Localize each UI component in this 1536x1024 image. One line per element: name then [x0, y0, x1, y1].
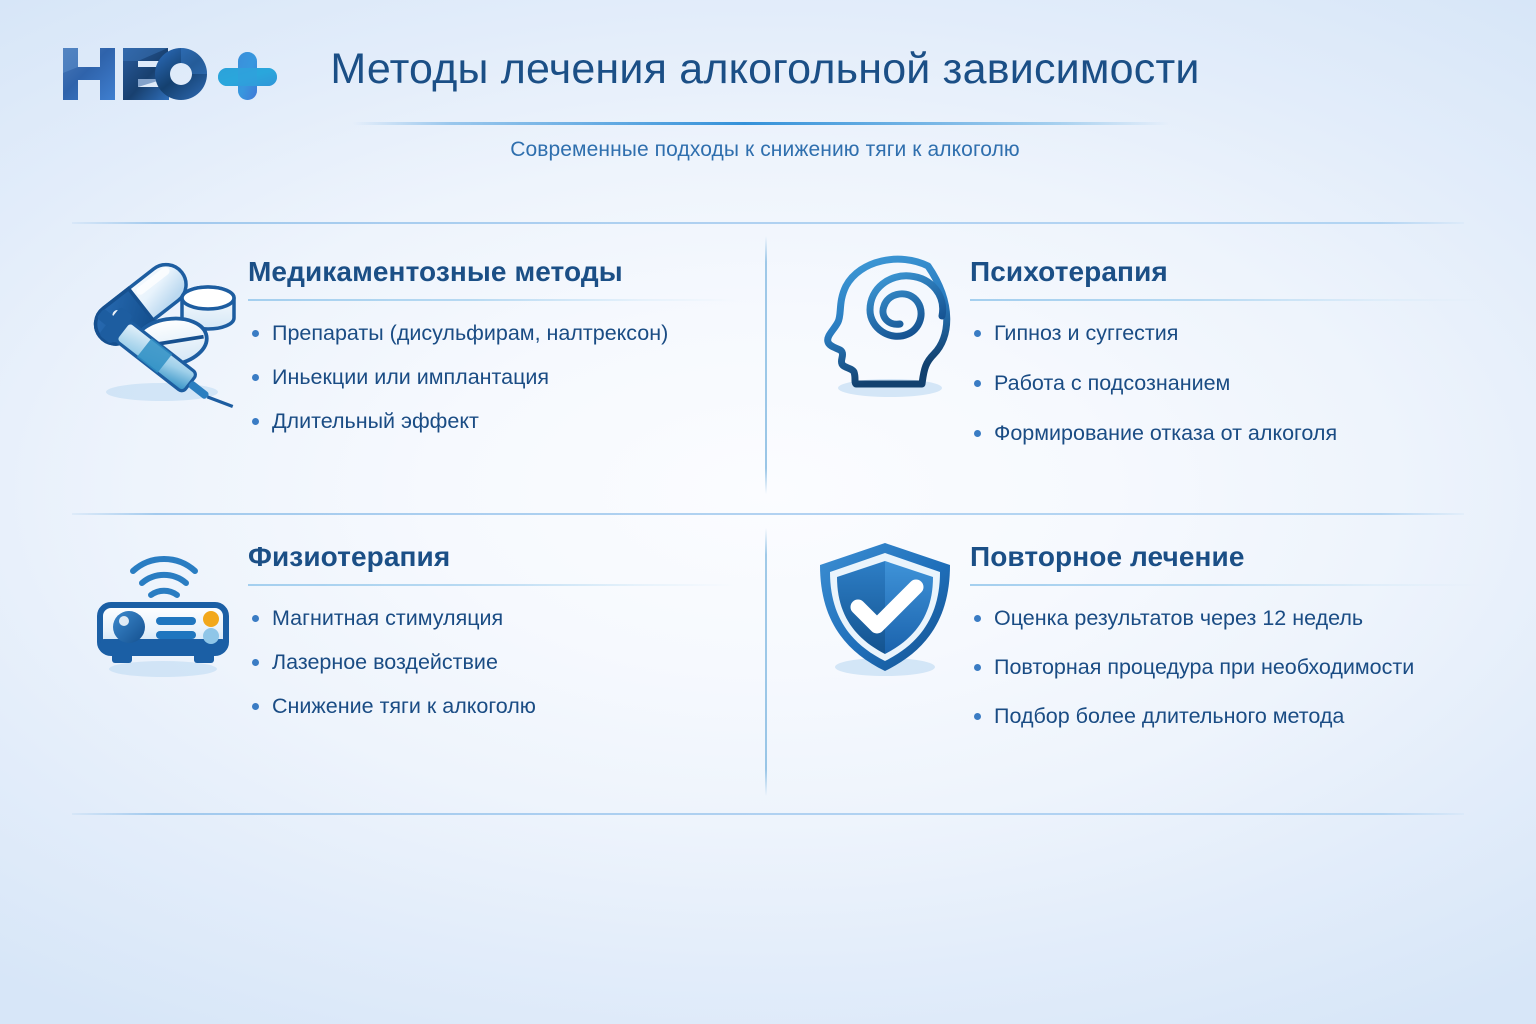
card-heading-underline — [970, 584, 1480, 586]
list-item: Подбор более длительного метода — [970, 702, 1480, 731]
list-item: Лазерное воздействие — [248, 648, 738, 677]
divider-bottom — [72, 813, 1464, 815]
list-item: Длительный эффект — [248, 407, 738, 436]
bullet-list: Препараты (дисульфирам, налтрексон) Инье… — [248, 319, 738, 436]
brand-logo — [55, 38, 295, 110]
card-heading: Физиотерапия — [248, 541, 738, 573]
list-item: Гипноз и суггестия — [970, 319, 1480, 348]
card-heading: Психотерапия — [970, 256, 1480, 288]
card-body: Повторное лечение Оценка результатов чер… — [970, 527, 1480, 751]
list-item: Формирование отказа от алкоголя — [970, 419, 1480, 448]
card-heading: Повторное лечение — [970, 541, 1480, 573]
card-body: Медикаментозные методы Препараты (дисуль… — [248, 242, 738, 451]
page-title: Методы лечения алкогольной зависимости — [300, 44, 1230, 96]
card-heading-underline — [248, 299, 738, 301]
card-physiotherapy: Физиотерапия Магнитная стимуляция Лазерн… — [78, 527, 738, 736]
card-body: Психотерапия Гипноз и суггестия Работа с… — [970, 242, 1480, 469]
bullet-list: Оценка результатов через 12 недель Повто… — [970, 604, 1480, 731]
list-item: Работа с подсознанием — [970, 369, 1480, 398]
card-body: Физиотерапия Магнитная стимуляция Лазерн… — [248, 527, 738, 736]
card-medication: Медикаментозные методы Препараты (дисуль… — [78, 242, 738, 451]
card-repeat-treatment: Повторное лечение Оценка результатов чер… — [800, 527, 1480, 751]
page-subtitle: Современные подходы к снижению тяги к ал… — [300, 138, 1230, 162]
list-item: Иньекции или имплантация — [248, 363, 738, 392]
list-item: Оценка результатов через 12 недель — [970, 604, 1480, 633]
neo-plus-logo-icon — [55, 38, 295, 110]
cards-grid: Медикаментозные методы Препараты (дисуль… — [0, 222, 1536, 813]
card-heading-underline — [970, 299, 1480, 301]
shield-checkmark-icon — [800, 527, 970, 695]
bullet-list: Магнитная стимуляция Лазерное воздействи… — [248, 604, 738, 721]
infographic-page: Методы лечения алкогольной зависимости С… — [0, 0, 1536, 1024]
list-item: Снижение тяги к алкоголю — [248, 692, 738, 721]
card-heading: Медикаментозные методы — [248, 256, 738, 288]
header: Методы лечения алкогольной зависимости С… — [0, 0, 1536, 190]
physiotherapy-device-icon — [78, 527, 248, 695]
title-underline — [352, 122, 1170, 125]
card-psychotherapy: Психотерапия Гипноз и суггестия Работа с… — [800, 242, 1480, 469]
head-hypnosis-spiral-icon — [800, 242, 970, 410]
pills-and-syringe-icon — [78, 242, 248, 410]
bullet-list: Гипноз и суггестия Работа с подсознанием… — [970, 319, 1480, 448]
card-heading-underline — [248, 584, 738, 586]
list-item: Магнитная стимуляция — [248, 604, 738, 633]
list-item: Повторная процедура при необходимости — [970, 653, 1480, 682]
list-item: Препараты (дисульфирам, налтрексон) — [248, 319, 738, 348]
